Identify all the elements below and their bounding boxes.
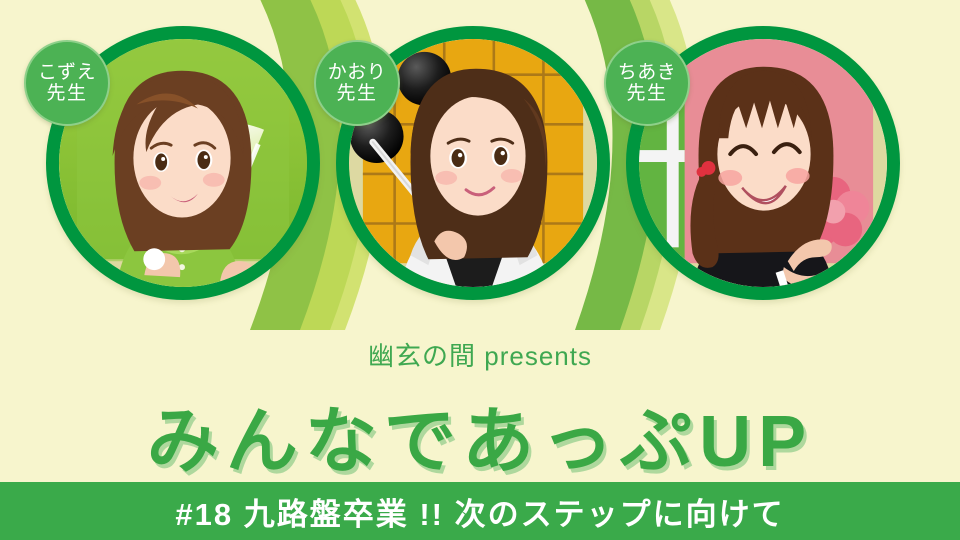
badge-name: ちあき xyxy=(618,62,677,83)
episode-banner: #18 九路盤卒業 !! 次のステップに向けて xyxy=(0,482,960,540)
badge-kaori: かおり 先生 xyxy=(314,40,400,126)
badge-chiaki: ちあき 先生 xyxy=(604,40,690,126)
poster-stage: こずえ 先生 xyxy=(0,0,960,540)
badge-name: こずえ xyxy=(38,62,96,83)
presents-line: 幽玄の間 presents xyxy=(0,336,960,373)
portrait-kaori[interactable]: かおり 先生 xyxy=(336,26,610,300)
badge-title: 先生 xyxy=(46,83,87,104)
episode-banner-text: #18 九路盤卒業 !! 次のステップに向けて xyxy=(175,489,784,534)
portrait-chiaki[interactable]: ちあき 先生 xyxy=(626,26,900,300)
badge-kozue: こずえ 先生 xyxy=(24,40,110,126)
portrait-kozue[interactable]: こずえ 先生 xyxy=(46,26,320,300)
badge-name: かおり xyxy=(328,62,387,83)
page-title: みんなであっぷUP xyxy=(0,382,960,487)
badge-title: 先生 xyxy=(626,83,667,104)
badge-title: 先生 xyxy=(336,83,377,104)
